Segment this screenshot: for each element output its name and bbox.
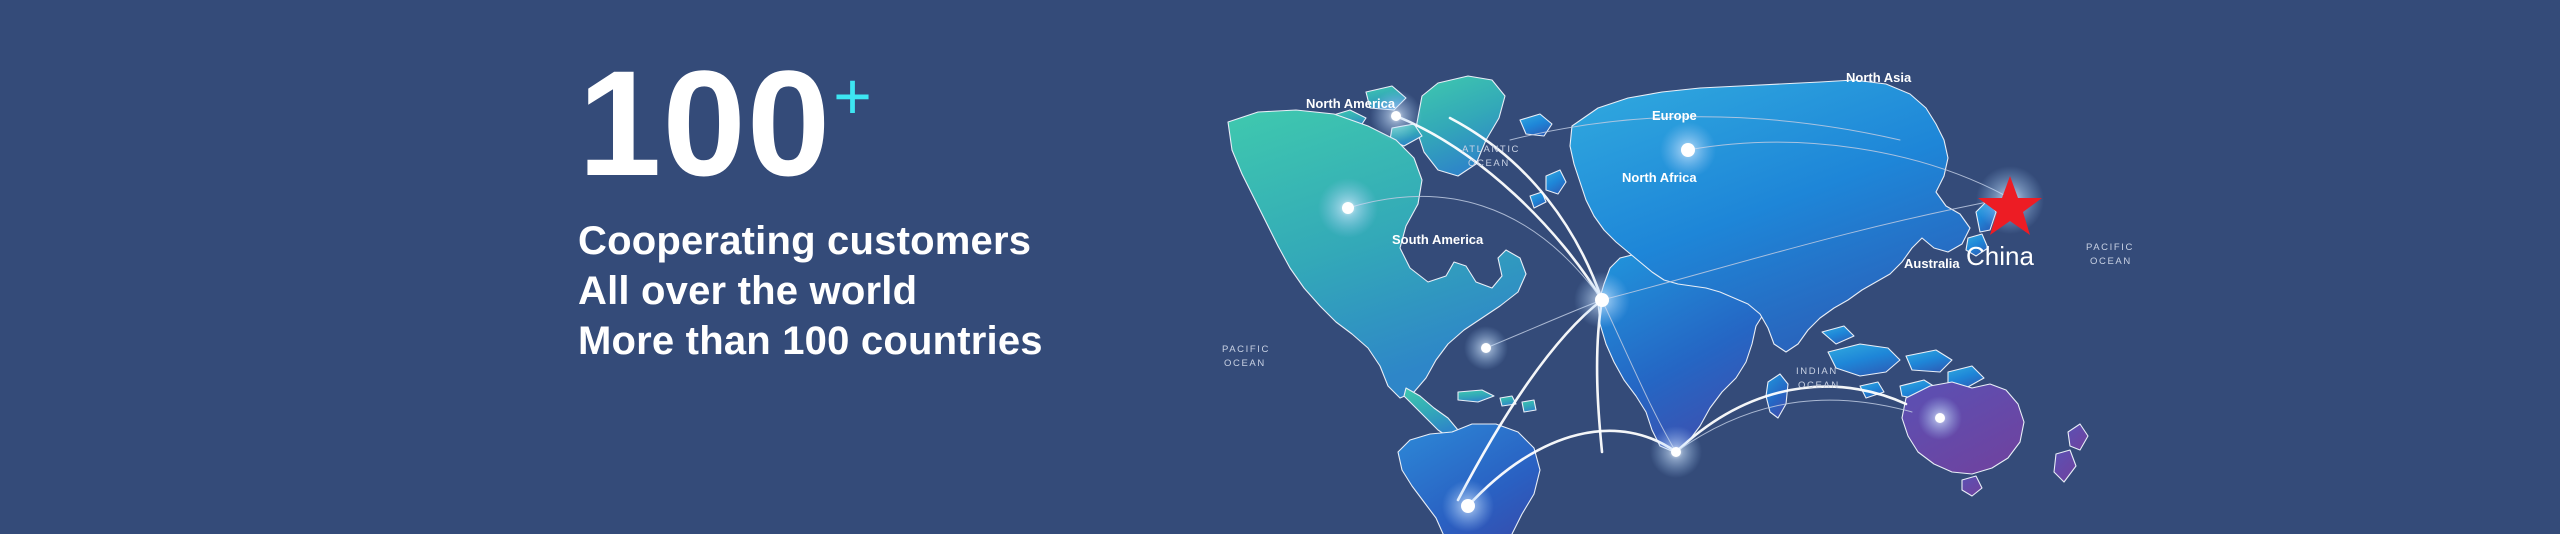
node-dot-europe [1681,143,1695,157]
tagline-3: More than 100 countries [578,316,1218,366]
node-dot-south-africa [1671,447,1681,457]
ocean-label-pacific-right-line1: PACIFIC [2086,242,2134,253]
node-dot-north-africa [1595,293,1609,307]
ocean-label-indian-line1: INDIAN [1796,366,1838,377]
node-dot-australia [1935,413,1945,423]
copy-block: 100+ Cooperating customers All over the … [578,48,1218,366]
central-america-shape [1404,388,1458,438]
node-dot-argentina [1461,499,1475,513]
region-label-australia: Australia [1904,256,1960,271]
node-dot-brazil [1481,343,1491,353]
ocean-label-atlantic-line1: ATLANTIC [1462,144,1520,155]
node-dot-usa [1342,202,1354,214]
world-coverage-banner: 100+ Cooperating customers All over the … [0,0,2560,534]
region-label-europe: Europe [1652,108,1697,123]
world-map: ATLANTIC OCEAN PACIFIC OCEAN PACIFIC OCE… [1200,0,2200,534]
ocean-label-pacific-right-line2: OCEAN [2090,256,2132,267]
caribbean-shape [1458,390,1536,412]
australia-shape [1902,382,2024,474]
region-label-north-africa: North Africa [1622,170,1697,185]
tasmania-shape [1962,476,1982,496]
new-zealand-shape [2054,424,2088,482]
tagline-2: All over the world [578,266,1218,316]
stat-plus-sign: + [833,59,872,133]
ocean-label-pacific-left-line1: PACIFIC [1222,344,1270,355]
tagline-1: Cooperating customers [578,216,1218,266]
region-label-north-america: North America [1306,96,1396,111]
region-label-north-asia: North Asia [1846,70,1912,85]
stat-line: 100+ [578,48,1218,198]
ocean-label-pacific-left-line2: OCEAN [1224,358,1266,369]
node-dot-canada [1391,111,1401,121]
ocean-label-atlantic-line2: OCEAN [1468,158,1510,169]
stat-number: 100 [578,39,831,207]
china-hub-label: China [1966,241,2034,271]
ocean-label-indian-line2: OCEAN [1798,380,1840,391]
region-label-south-america: South America [1392,232,1484,247]
route-hub-to-australia-inner [1676,400,1912,452]
